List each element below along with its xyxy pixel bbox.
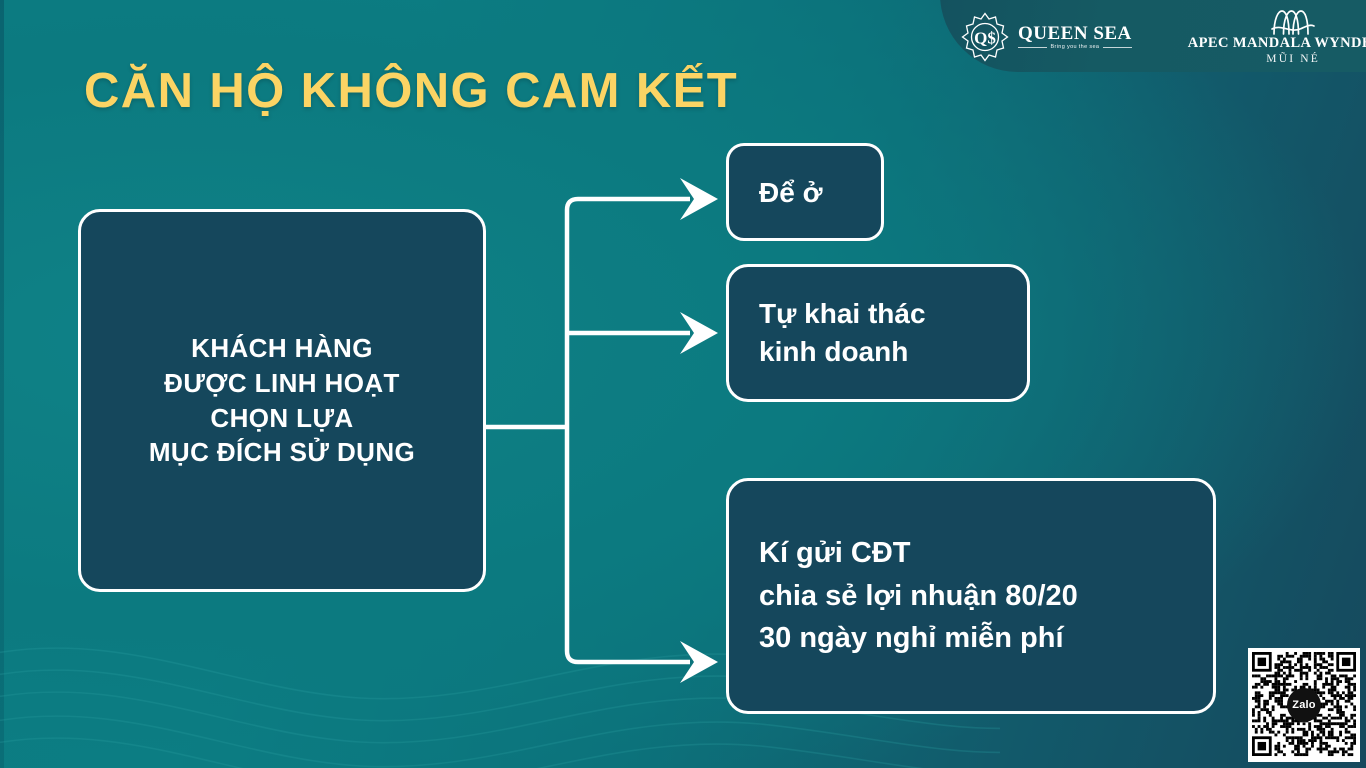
rule-right bbox=[1103, 47, 1132, 48]
queen-sea-tagline: Bring you the sea bbox=[1051, 44, 1100, 50]
apec-name: APEC MANDALA WYNDHAM bbox=[1188, 36, 1366, 52]
wave-mark-icon bbox=[1270, 9, 1316, 35]
page-title: CĂN HỘ KHÔNG CAM KẾT bbox=[84, 63, 738, 119]
queen-sea-logo: Q$ QUEEN SEA Bring you the sea bbox=[960, 12, 1132, 62]
arrowhead-1 bbox=[680, 178, 718, 220]
connector-branch-3 bbox=[567, 427, 690, 662]
queen-sea-name: QUEEN SEA bbox=[1018, 24, 1132, 44]
logo-bar: Q$ QUEEN SEA Bring you the sea bbox=[960, 6, 1360, 68]
flow-node-branch-1[interactable]: Để ở bbox=[726, 143, 884, 241]
sunburst-seal-icon: Q$ bbox=[960, 12, 1010, 62]
flow-node-branch-2[interactable]: Tự khai thác kinh doanh bbox=[726, 264, 1030, 402]
slide-canvas: Q$ QUEEN SEA Bring you the sea bbox=[0, 0, 1366, 768]
zalo-qr-code[interactable]: Zalo bbox=[1248, 648, 1360, 762]
apec-mandala-wyndham-logo: APEC MANDALA WYNDHAM MŨI NÉ bbox=[1188, 9, 1366, 65]
flow-node-branch-3-label: Kí gửi CĐT chia sẻ lợi nhuận 80/20 30 ng… bbox=[759, 532, 1078, 661]
qr-center-label: Zalo bbox=[1287, 688, 1321, 722]
flow-node-root[interactable]: KHÁCH HÀNG ĐƯỢC LINH HOẠT CHỌN LỰA MỤC Đ… bbox=[78, 209, 486, 592]
svg-text:Q$: Q$ bbox=[974, 29, 996, 48]
rule-left bbox=[1018, 47, 1047, 48]
queen-sea-tagline-rule: Bring you the sea bbox=[1018, 44, 1132, 50]
left-edge-stripe bbox=[0, 0, 4, 768]
queen-sea-wordmark: QUEEN SEA Bring you the sea bbox=[1018, 24, 1132, 51]
flow-node-branch-1-label: Để ở bbox=[759, 175, 822, 210]
apec-location: MŨI NÉ bbox=[1266, 53, 1320, 65]
arrowhead-2 bbox=[680, 312, 718, 354]
connector-branch-1 bbox=[567, 199, 690, 427]
flow-node-root-label: KHÁCH HÀNG ĐƯỢC LINH HOẠT CHỌN LỰA MỤC Đ… bbox=[149, 331, 415, 469]
flow-node-branch-2-label: Tự khai thác kinh doanh bbox=[759, 295, 926, 371]
flow-node-branch-3[interactable]: Kí gửi CĐT chia sẻ lợi nhuận 80/20 30 ng… bbox=[726, 478, 1216, 714]
arrowhead-3 bbox=[680, 641, 718, 683]
